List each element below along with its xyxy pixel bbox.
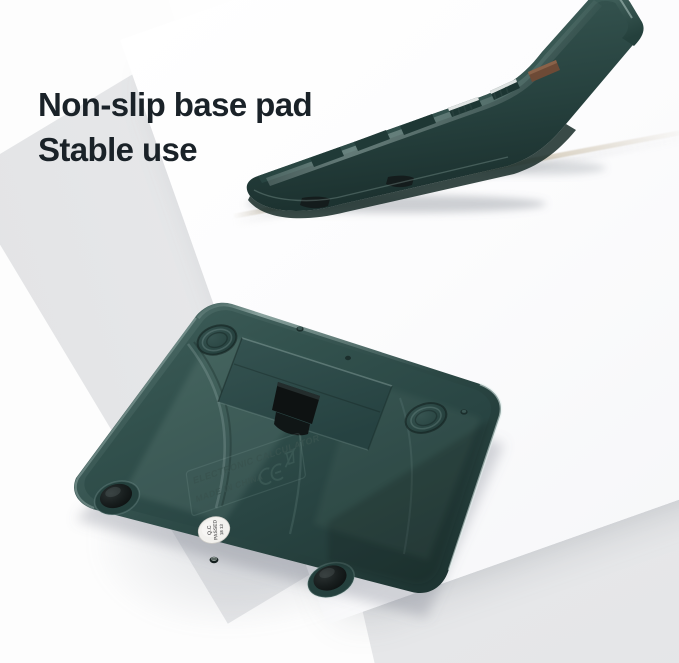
headline-line-1: Non-slip base pad [38, 86, 312, 123]
qc-line-3: 18 13 [219, 523, 225, 535]
screw [210, 557, 219, 563]
headline-line-2: Stable use [38, 127, 312, 173]
screw [460, 409, 467, 414]
screw [296, 326, 303, 331]
product-marketing-image: Non-slip base pad Stable use [0, 0, 679, 663]
calculator-underside: ELECTRONIC CALCULATOR MADE IN CHINA [28, 272, 538, 644]
headline: Non-slip base pad Stable use [38, 36, 312, 218]
screw [345, 356, 351, 360]
